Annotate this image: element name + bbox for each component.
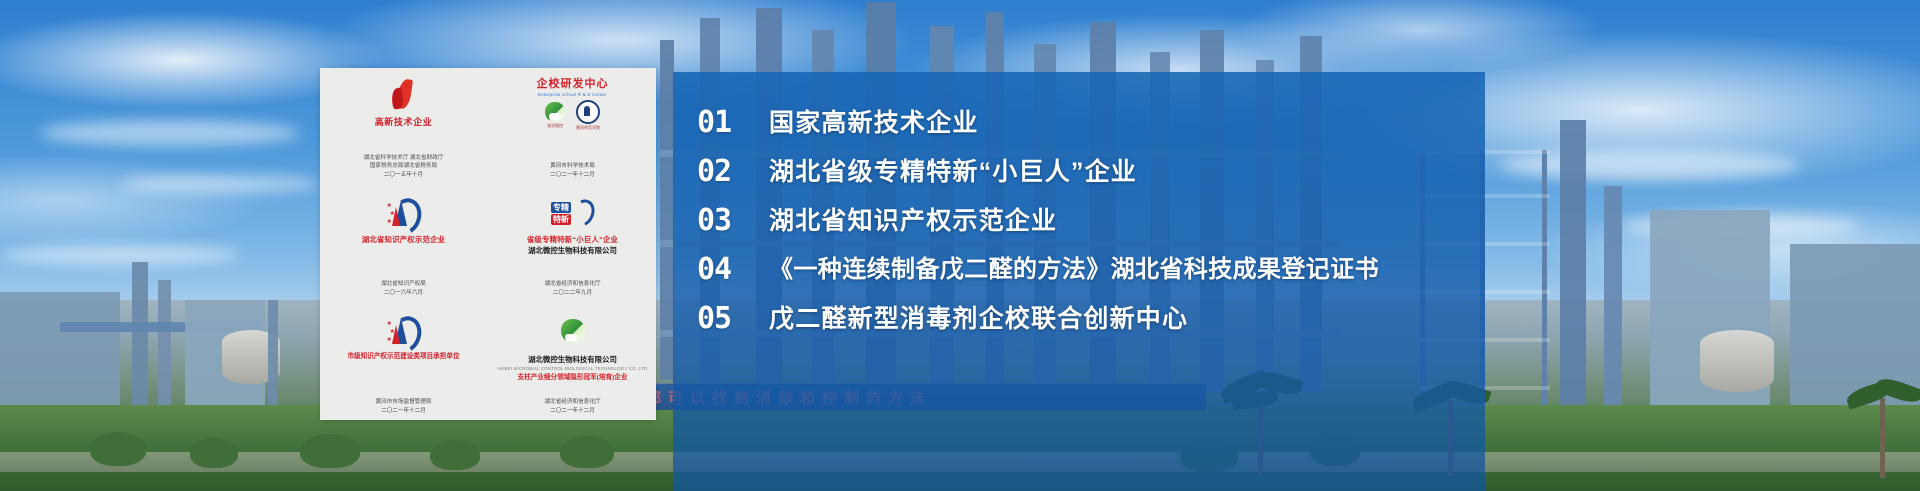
rd-center-logo-cn: 企校研发中心 (537, 75, 609, 91)
honor-item-label: 湖北省级专精特新“小巨人”企业 (769, 158, 1137, 187)
plant-column (132, 262, 148, 412)
certificate-title: 市级知识产权示范建设类项目承担单位 (347, 353, 459, 361)
certificate-issuer-line1: 黄冈市市场监督管理局 (376, 398, 432, 406)
ip-sail-logo: ★ ★ ★ (387, 311, 421, 351)
honors-banner: 全 隐患都可以找到消除和控制的方法 高新技术企业 湖北省科学技术厅 湖北省财政厅… (0, 0, 1920, 491)
certificate-meta: 湖北省知识产权局 二〇一六年六月 (381, 280, 426, 297)
certificate-issuer-line1: 湖北省知识产权局 (381, 280, 426, 288)
cloud-wisp (0, 245, 240, 265)
honor-item-label: 戊二醛新型消毒剂企校联合创新中心 (769, 305, 1188, 334)
certificate-title: 省级专精特新“小巨人”企业 (527, 235, 618, 244)
honor-item-label: 湖北省知识产权示范企业 (769, 207, 1057, 236)
certificate-date: 二〇一六年六月 (381, 289, 426, 297)
certificate-meta: 黄冈市科学技术局 二〇二一年十二月 (550, 162, 595, 179)
certificate-issuer-line2: 国家税务总局湖北省税务局 (364, 162, 444, 170)
ip-sail-logo: ★ ★ ★ (387, 193, 421, 233)
honor-item-number: 03 (697, 206, 745, 236)
rd-center-logo-en: Enterprise school R & D Center (538, 92, 607, 97)
storage-tank (1700, 330, 1774, 392)
certificate-title: 支柱产业细分领域隐形冠军(培育)企业 (518, 374, 628, 382)
honor-item-number: 01 (697, 108, 745, 138)
certificate-subtitle: 湖北微控生物科技有限公司 (528, 246, 617, 256)
certificate-meta: 黄冈市市场监督管理局 二〇二一年十二月 (376, 398, 432, 415)
honor-item-number: 04 (697, 255, 745, 285)
seal-row: 湖北微控 黄冈师范学院 (545, 100, 600, 131)
certificate-issuer-line1: 湖北省科学技术厅 湖北省财政厅 (364, 154, 444, 162)
plant-structure (0, 292, 120, 412)
certificate-title: 湖北省知识产权示范企业 (362, 235, 446, 244)
honor-item-label: 国家高新技术企业 (769, 109, 979, 138)
shrub (430, 440, 480, 470)
logo-badge-texin: 特新 (551, 214, 571, 225)
weikong-corp-logo (561, 311, 585, 351)
plant-column (268, 300, 278, 412)
honor-item-number: 02 (697, 157, 745, 187)
certificate-issuer-line1: 湖北省经济和信息化厅 (545, 280, 601, 288)
certificate-date: 二〇二一年十二月 (376, 407, 432, 415)
certificate-meta: 湖北省经济和信息化厅 二〇二二年九月 (545, 280, 601, 297)
certificate-issuer-line1: 湖北省经济和信息化厅 (545, 398, 601, 406)
certificate-meta: 湖北省科学技术厅 湖北省财政厅 国家税务总局湖北省税务局 二〇一五年十月 (364, 154, 444, 179)
enterprise-school-rd-center-logo: 企校研发中心 Enterprise school R & D Center 湖北… (537, 75, 609, 131)
weikong-seal-icon (561, 319, 585, 343)
honor-list-item[interactable]: 02 湖北省级专精特新“小巨人”企业 (697, 157, 1485, 187)
certificate-title: 高新技术企业 (375, 117, 433, 128)
honor-item-label: 《一种连续制备戊二醛的方法》湖北省科技成果登记证书 (769, 256, 1379, 284)
certificate-date: 二〇一五年十月 (364, 171, 444, 179)
seal-right-caption: 黄冈师范学院 (576, 125, 600, 131)
palm-trunk (1880, 398, 1885, 478)
shrub (560, 436, 614, 468)
honor-list-item[interactable]: 05 戊二醛新型消毒剂企校联合创新中心 (697, 304, 1485, 334)
company-name-cn: 湖北微控生物科技有限公司 (528, 355, 617, 365)
certificate-card[interactable]: 湖北微控生物科技有限公司 HUBEI MICROBIAL CONTROL BIO… (489, 304, 656, 420)
certificate-date: 二〇二一年十二月 (550, 171, 595, 179)
plant-column (660, 40, 674, 380)
company-name-en: HUBEI MICROBIAL CONTROL BIOLOGICAL TECHN… (498, 366, 647, 371)
plant-column (1604, 186, 1622, 412)
weikong-seal-icon (545, 102, 565, 122)
shrub (90, 432, 146, 466)
plant-column (158, 280, 171, 412)
honor-list-item[interactable]: 01 国家高新技术企业 (697, 108, 1485, 138)
certificate-date: 二〇二一年十二月 (545, 407, 601, 415)
honor-list: 01 国家高新技术企业 02 湖北省级专精特新“小巨人”企业 03 湖北省知识产… (697, 108, 1485, 334)
logo-badge-zhuanjing: 专精 (551, 202, 571, 213)
certificate-meta: 湖北省经济和信息化厅 二〇二一年十二月 (545, 398, 601, 415)
honor-list-item[interactable]: 03 湖北省知识产权示范企业 (697, 206, 1485, 236)
certificate-card[interactable]: 高新技术企业 湖北省科学技术厅 湖北省财政厅 国家税务总局湖北省税务局 二〇一五… (320, 68, 487, 184)
certificate-grid: 高新技术企业 湖北省科学技术厅 湖北省财政厅 国家税务总局湖北省税务局 二〇一五… (320, 68, 656, 420)
certificate-card[interactable]: ★ ★ ★ 市级知识产权示范建设类项目承担单位 黄冈市市场监督管理局 二〇二一年… (320, 304, 487, 420)
university-seal-icon (576, 100, 600, 124)
shrub (190, 438, 238, 468)
zhuanjing-texin-logo: 专精 特新 (551, 193, 594, 233)
flame-logo (391, 75, 417, 115)
certificate-card[interactable]: 企校研发中心 Enterprise school R & D Center 湖北… (489, 68, 656, 184)
certificate-date: 二〇二二年九月 (545, 289, 601, 297)
seal-left-caption: 湖北微控 (547, 123, 563, 129)
cloud-wisp (40, 120, 300, 146)
honor-item-number: 05 (697, 304, 745, 334)
certificate-issuer-line1: 黄冈市科学技术局 (550, 162, 595, 170)
certificate-card[interactable]: ★ ★ ★ 湖北省知识产权示范企业 湖北省知识产权局 二〇一六年六月 (320, 186, 487, 302)
cloud-wisp (120, 175, 320, 193)
distillation-tower (1560, 120, 1586, 412)
shrub (300, 434, 360, 468)
honor-list-item[interactable]: 04 《一种连续制备戊二醛的方法》湖北省科技成果登记证书 (697, 255, 1485, 285)
certificate-card[interactable]: 专精 特新 省级专精特新“小巨人”企业 湖北微控生物科技有限公司 湖北省经济和信… (489, 186, 656, 302)
honors-overlay-panel: 01 国家高新技术企业 02 湖北省级专精特新“小巨人”企业 03 湖北省知识产… (673, 72, 1485, 491)
logo-swoosh-icon (567, 196, 598, 231)
